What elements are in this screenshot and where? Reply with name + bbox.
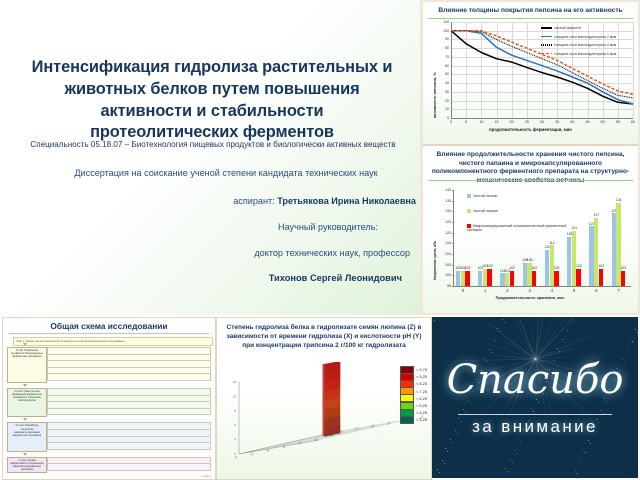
y-axis-label: активность пепсина, % [432, 72, 437, 118]
bar-x-category: 4 [542, 288, 562, 293]
grid-line-v [527, 22, 528, 118]
star [580, 461, 581, 462]
bar-legend-item-0: Чистый пепсин [467, 194, 527, 198]
x-tick-label: 60 [628, 120, 638, 124]
supervisor-label: Научный руководитель: [60, 222, 378, 232]
star [491, 352, 492, 353]
y-axis [451, 22, 452, 118]
y-tick-label: 80 [438, 46, 449, 50]
slide-thanks: Спасибо за внимание [432, 317, 638, 478]
legend-label: толщина слоя мальтодекстрина 4 мкм [554, 43, 616, 47]
star [489, 349, 490, 350]
schema-stage-box-0: II этап. Повышение активности бактериаль… [7, 347, 47, 383]
aspirant-name: Третьякова Ирина Николаевна [277, 196, 416, 206]
slide-line-chart: Влияние толщины покрытия пепсина на его … [423, 2, 638, 146]
schema-arrow-0 [23, 343, 27, 346]
bar-y-tick: 105 [439, 263, 451, 267]
axis-frame [239, 432, 335, 454]
bar-7-0 [612, 213, 616, 286]
grid-line-h [451, 22, 633, 23]
legend-label: толщина слоя мальтодекстрина 6 мкм [554, 52, 616, 56]
line-chart-plot: 0102030405060708090100110051015202530354… [423, 2, 638, 144]
x-axis-label: продолжительность ферментации, мин [423, 127, 638, 132]
bar-y-tickmark [452, 222, 454, 223]
star [575, 470, 576, 471]
schema-row-1-3 [47, 408, 211, 416]
bar-value-label: 106 [524, 258, 535, 262]
legend-swatch [541, 36, 552, 38]
schema-body: II этап. Повышение активности бактериаль… [3, 318, 215, 479]
bar-value-label: 127 [591, 213, 602, 217]
bar-4-0 [545, 250, 549, 286]
star [499, 331, 500, 332]
star [559, 351, 560, 352]
surface-legend-item-7: < 3,25 [400, 416, 427, 423]
surface-legend-label: < 9,25 [416, 374, 427, 379]
surface-z-tick: 8 [235, 409, 237, 413]
x-tick-label: 20 [507, 120, 517, 124]
surface-legend-label: < 8,25 [416, 381, 427, 386]
bar-y-tickmark [452, 233, 454, 234]
bar-5-1 [572, 231, 576, 286]
schema-row-2-3 [47, 442, 211, 450]
thanks-heading: Спасибо [432, 357, 638, 403]
bar-5-0 [567, 237, 571, 286]
bar-y-axis-label: Напряжение среза, кПа [433, 241, 437, 280]
grid-line-h [451, 31, 633, 32]
x-tick-label: 50 [598, 120, 608, 124]
slide-bar-chart: Влияние продолжительности хранения чисто… [423, 146, 638, 313]
grid-line-h [451, 101, 633, 102]
surface-z-tick: 4 [235, 438, 237, 442]
grid-line-h [451, 66, 633, 67]
bar-value-label: 102 [551, 266, 562, 270]
bar-legend-label: Чистый пепсин [473, 194, 497, 198]
legend-item-2: толщина слоя мальтодекстрина 4 мкм [541, 44, 616, 48]
bar-y-tick: 135 [439, 199, 451, 203]
bar-3-2 [532, 271, 536, 286]
bar-y-tick: 115 [439, 241, 451, 245]
bar-y-tickmark [452, 286, 454, 287]
surface-legend-label: < 4,25 [416, 410, 427, 415]
bar-x-category: 1 [475, 288, 495, 293]
surface-side [323, 362, 341, 436]
star [444, 463, 445, 464]
legend-label: чистый фермент [554, 26, 581, 30]
surface-z-tick: 12 [233, 380, 236, 384]
star [583, 449, 584, 450]
bar-2-0 [500, 273, 504, 286]
bar-0-0 [456, 271, 460, 286]
x-tick-label: 55 [613, 120, 623, 124]
aspirant-label: аспирант: [233, 196, 277, 206]
x-tick-label: 45 [583, 120, 593, 124]
grid-line-v [466, 22, 467, 118]
bar-0-2 [465, 271, 469, 286]
y-tick-label: 90 [438, 37, 449, 41]
bar-value-label: 114 [547, 241, 558, 245]
x-tick-label: 10 [476, 120, 486, 124]
bar-chart-plot: 9510010511011512012513013514010210210201… [423, 146, 638, 313]
surface-legend: > 9,75< 9,25< 8,25< 7,25< 6,25< 5,25< 4,… [400, 366, 427, 424]
grid-line-h [451, 92, 633, 93]
bar-x-category: 0 [453, 288, 473, 293]
bar-y-tickmark [452, 254, 454, 255]
star [577, 473, 578, 474]
schema-footer: Слайд 3 [201, 475, 211, 478]
schema-stage-box-1: III этап. Практическое применение фермен… [7, 388, 47, 417]
grid-line-v [618, 22, 619, 118]
schema-stage-box-2: IV этап. Разработка технологии микрокапс… [7, 422, 47, 451]
schema-row-3-1 [47, 463, 211, 471]
star [515, 450, 516, 451]
page-title: Интенсификация гидролиза растительных и … [28, 57, 396, 144]
schema-stage-box-3: V этап. Оценка эффективности применения … [7, 457, 47, 473]
bar-1-0 [478, 271, 482, 286]
star [585, 452, 586, 453]
star [637, 332, 638, 333]
bar-y-tickmark [452, 265, 454, 266]
surface-legend-label: < 6,25 [416, 396, 427, 401]
grid-line-h [451, 109, 633, 110]
slide-surface-chart: Степень гидролиза белка в гидролизате се… [216, 317, 432, 480]
bar-y-tickmark [452, 275, 454, 276]
bar-value-label: 102 [507, 266, 518, 270]
surface-z-tick: 2 [235, 452, 237, 456]
star [557, 348, 558, 349]
star [564, 342, 565, 343]
grid-line-h [451, 48, 633, 49]
grid-line-v [497, 22, 498, 118]
star [517, 453, 518, 454]
bar-legend-swatch [467, 209, 471, 213]
grid-line-v [633, 22, 634, 118]
bar-y-tick: 140 [439, 188, 451, 192]
y-tick-label: 60 [438, 64, 449, 68]
bar-4-2 [554, 271, 558, 286]
bar-legend-label: Чистый папаин [473, 209, 498, 213]
star [562, 339, 563, 340]
star [510, 459, 511, 460]
bar-legend-item-1: Чистый папаин [467, 209, 527, 213]
x-tick-label: 15 [492, 120, 502, 124]
bar-y-tick: 95 [439, 284, 451, 288]
schema-row-0-4 [47, 373, 211, 381]
bar-0-1 [461, 271, 465, 286]
thanks-subheading: за внимание [432, 417, 638, 437]
star [567, 330, 568, 331]
presentation-canvas: Интенсификация гидролиза растительных и … [0, 0, 640, 480]
aspirant-line: аспирант: Третьякова Ирина Николаевна [60, 196, 416, 206]
slide-title: Интенсификация гидролиза растительных и … [0, 0, 420, 315]
schema-arrow-1 [23, 384, 27, 387]
grid-line-h [451, 83, 633, 84]
surface-chart-title: Степень гидролиза белка в гидролизате се… [223, 324, 425, 350]
bar-value-label: 102 [462, 266, 473, 270]
y-tick-label: 20 [438, 99, 449, 103]
x-tick-label: 25 [522, 120, 532, 124]
surface-legend-swatch [400, 416, 414, 424]
bar-y-tick: 130 [439, 209, 451, 213]
star [463, 409, 464, 410]
star [465, 412, 466, 413]
legend-swatch [541, 27, 552, 29]
star [442, 460, 443, 461]
x-tick-label: 5 [461, 120, 471, 124]
star [578, 458, 579, 459]
bar-1-2 [487, 269, 491, 286]
bar-y-tick: 125 [439, 220, 451, 224]
slide-research-schema: Общая схема исследовании Этап 1. Анализ … [2, 317, 216, 480]
bar-x-category: 3 [520, 288, 540, 293]
y-tick-label: 100 [438, 29, 449, 33]
schema-arrow-3 [23, 453, 27, 456]
bar-5-2 [576, 269, 580, 286]
bar-y-tick: 120 [439, 231, 451, 235]
y-tick-label: 50 [438, 72, 449, 76]
bar-legend-item-2: Микрокапсулированный поликомпонентный фе… [467, 224, 577, 232]
bar-value-label: 103 [573, 264, 584, 268]
x-axis [451, 118, 633, 119]
legend-label: толщина слоя мальтодекстрина 2 мкм [554, 35, 616, 39]
x-tick-label: 30 [537, 120, 547, 124]
y-tick-label: 10 [438, 107, 449, 111]
bar-value-label: 102 [529, 266, 540, 270]
star [632, 341, 633, 342]
bar-2-2 [510, 271, 514, 286]
bar-x-axis-label: Продолжительность хранения, мес. [423, 295, 638, 300]
supervisor-degree: доктор технических наук, профессор [60, 248, 410, 258]
bar-3-0 [523, 263, 527, 286]
bar-x-category: 5 [564, 288, 584, 293]
surface-z-tick: 6 [235, 423, 237, 427]
bar-y-tickmark [452, 243, 454, 244]
star [635, 329, 636, 330]
surface-plot: 102030405060706.07.08.09.010.011.0246810… [217, 362, 431, 477]
surface-legend-label: < 7,25 [416, 389, 427, 394]
star [439, 472, 440, 473]
bar-y-tick: 100 [439, 273, 451, 277]
thanks-divider [458, 414, 612, 415]
legend-item-1: толщина слоя мальтодекстрина 2 мкм [541, 36, 616, 40]
grid-line-v [512, 22, 513, 118]
bar-x-category: 7 [609, 288, 629, 293]
star [505, 468, 506, 469]
star [497, 328, 498, 329]
surface-z-tick: 10 [233, 394, 236, 398]
bar-y-tick: 110 [439, 252, 451, 256]
star [601, 410, 602, 411]
bar-x-category: 6 [586, 288, 606, 293]
legend-swatch [541, 53, 552, 55]
schema-arrow-2 [23, 418, 27, 421]
legend-item-0: чистый фермент [541, 27, 581, 31]
star [445, 448, 446, 449]
grid-line-h [451, 57, 633, 58]
star [533, 411, 534, 412]
surface-legend-label: > 9,75 [416, 367, 427, 372]
star [627, 350, 628, 351]
star [447, 451, 448, 452]
surface-legend-label: < 5,25 [416, 403, 427, 408]
bar-x-category: 2 [497, 288, 517, 293]
y-tick-label: 70 [438, 55, 449, 59]
dissertation-text: Диссертация на соискание ученой степени … [40, 168, 412, 178]
y-tick-label: 110 [438, 20, 449, 24]
legend-swatch [541, 44, 552, 46]
star [531, 408, 532, 409]
star [494, 340, 495, 341]
bar-1-1 [483, 269, 487, 286]
surface-legend-label: < 3,25 [416, 417, 427, 422]
bar-value-label: 103 [484, 264, 495, 268]
bar-value-label: 102 [618, 266, 629, 270]
x-tick-label: 35 [552, 120, 562, 124]
bar-7-2 [621, 271, 625, 286]
bar-y-axis [453, 190, 454, 286]
bar-value-label: 103 [596, 264, 607, 268]
bar-y-tickmark [452, 201, 454, 202]
bar-6-1 [594, 218, 598, 286]
bar-2-1 [505, 273, 509, 286]
bar-7-1 [616, 203, 620, 286]
bar-x-axis [453, 286, 631, 287]
y-tick-label: 40 [438, 81, 449, 85]
x-tick-label: 0 [446, 120, 456, 124]
bar-legend-label: Микрокапсулированный поликомпонентный фе… [467, 224, 567, 232]
grid-line-h [451, 39, 633, 40]
bar-y-tickmark [452, 211, 454, 212]
star [507, 471, 508, 472]
bar-6-2 [599, 269, 603, 286]
y-tick-label: 30 [438, 90, 449, 94]
star [630, 338, 631, 339]
star [437, 469, 438, 470]
star [512, 462, 513, 463]
bar-value-label: 134 [613, 198, 624, 202]
specialty-text: Специальность 05.18.07 – Биотехнология п… [16, 140, 410, 150]
supervisor-name: Тихонов Сергей Леонидович [60, 273, 402, 283]
bar-legend-swatch [467, 194, 471, 198]
legend-item-3: толщина слоя мальтодекстрина 6 мкм [541, 53, 616, 57]
x-tick-label: 40 [567, 120, 577, 124]
grid-line-h [451, 74, 633, 75]
bar-6-0 [589, 226, 593, 286]
bar-y-tickmark [452, 190, 454, 191]
grid-line-v [481, 22, 482, 118]
